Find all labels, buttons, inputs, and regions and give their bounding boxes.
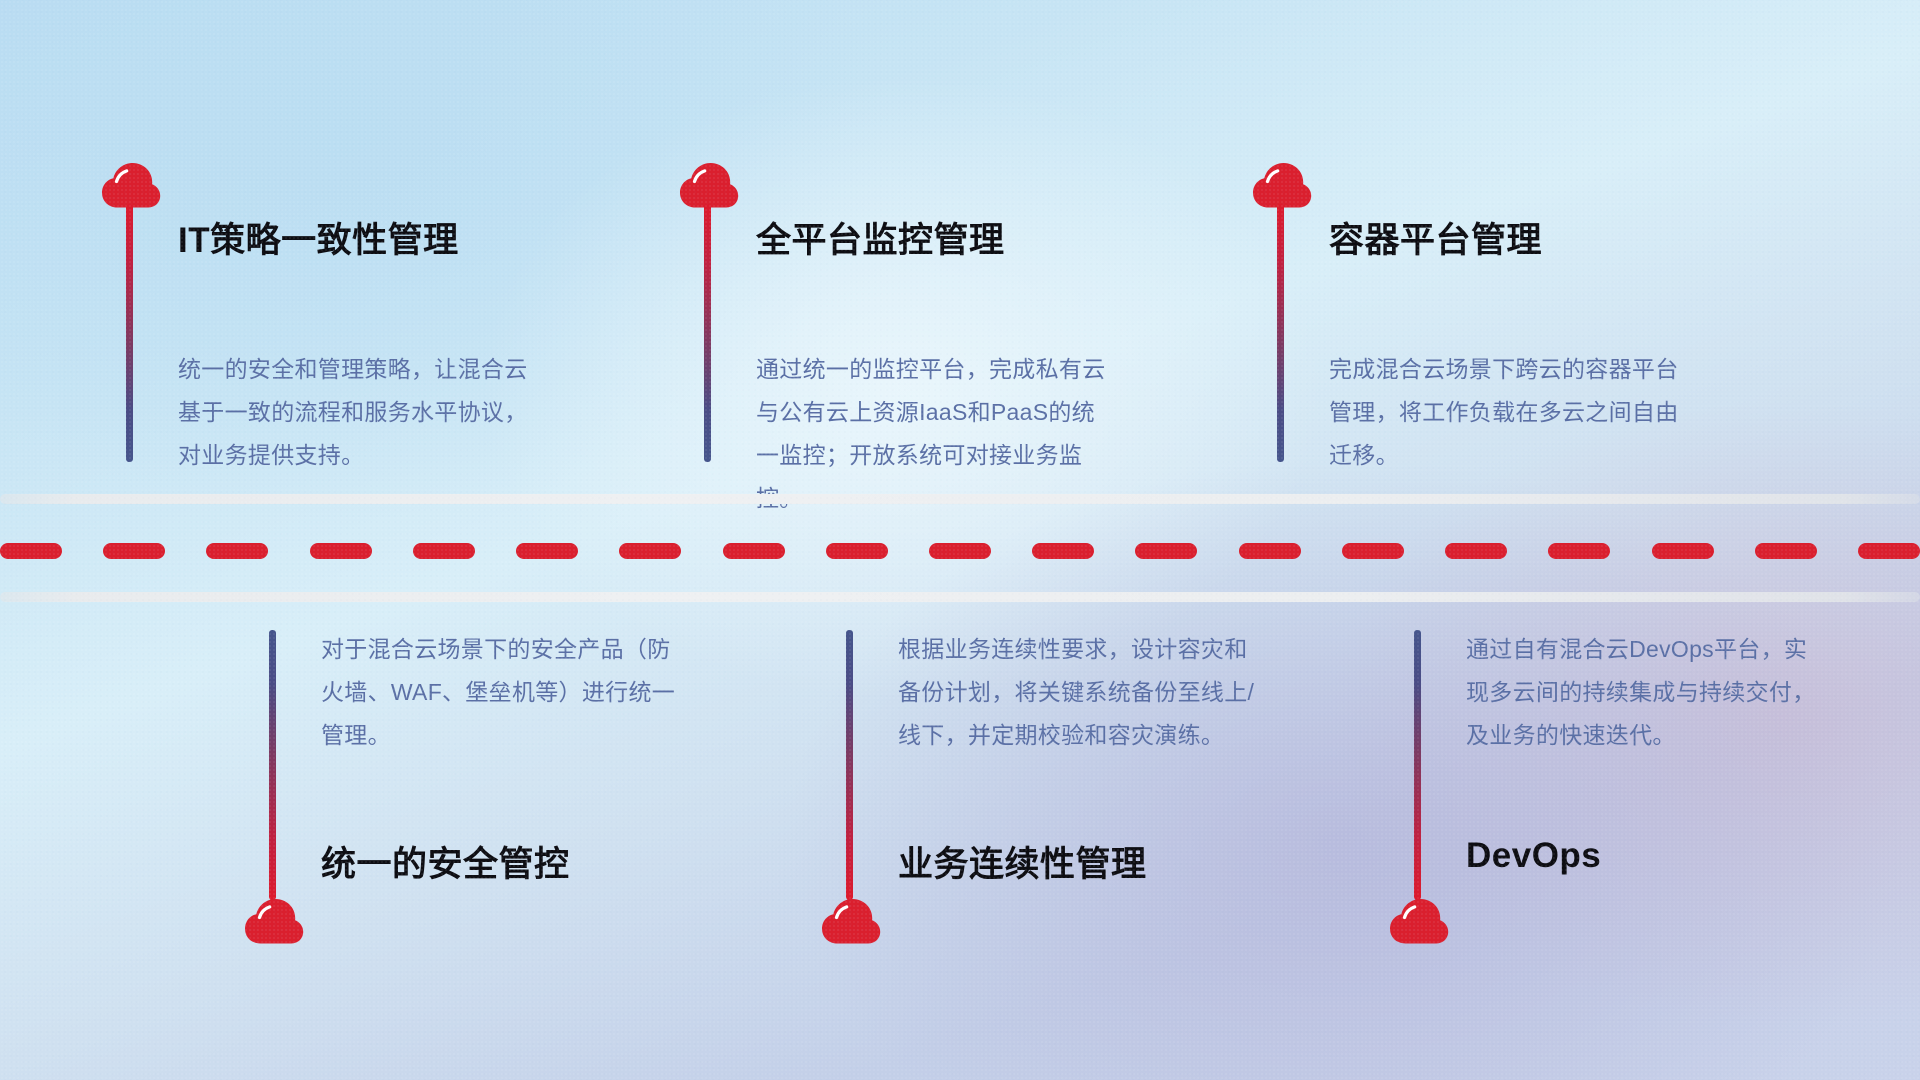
cloud-icon — [243, 896, 305, 946]
road-line-top — [0, 494, 1920, 504]
road-dash-segment — [826, 543, 888, 559]
card-body: 通过自有混合云DevOps平台，实现多云间的持续集成与持续交付，及业务的快速迭代… — [1466, 628, 1826, 757]
connector-line — [846, 630, 853, 900]
road-dash-segment — [723, 543, 785, 559]
road-dash-segment — [1755, 543, 1817, 559]
road-dash-segment — [619, 543, 681, 559]
card-body: 根据业务连续性要求，设计容灾和备份计划，将关键系统备份至线上/线下，并定期校验和… — [898, 628, 1258, 757]
card-body: 统一的安全和管理策略，让混合云基于一致的流程和服务水平协议，对业务提供支持。 — [178, 348, 538, 477]
road-dash-segment — [1239, 543, 1301, 559]
cloud-icon — [100, 160, 162, 210]
connector-line — [1414, 630, 1421, 900]
card-title: 统一的安全管控 — [321, 836, 570, 887]
connector-line — [704, 204, 711, 462]
cloud-icon — [678, 160, 740, 210]
connector-line — [269, 630, 276, 900]
road-dash-segment — [516, 543, 578, 559]
road-dash-segment — [1445, 543, 1507, 559]
road-dash-segment — [103, 543, 165, 559]
road-dash-segment — [206, 543, 268, 559]
card-body: 对于混合云场景下的安全产品（防火墙、WAF、堡垒机等）进行统一管理。 — [321, 628, 681, 757]
cloud-icon — [1251, 160, 1313, 210]
card-title: 容器平台管理 — [1329, 212, 1542, 263]
road-dash-segment — [1548, 543, 1610, 559]
road-dash-segment — [929, 543, 991, 559]
card-title: DevOps — [1466, 836, 1601, 876]
infographic-canvas: IT策略一致性管理 统一的安全和管理策略，让混合云基于一致的流程和服务水平协议，… — [0, 0, 1920, 1080]
card-body: 完成混合云场景下跨云的容器平台管理，将工作负载在多云之间自由迁移。 — [1329, 348, 1689, 477]
road-dash-segment — [1652, 543, 1714, 559]
connector-line — [1277, 204, 1284, 462]
card-title: 业务连续性管理 — [898, 836, 1147, 887]
road-dash-segment — [413, 543, 475, 559]
road-dash-segment — [1032, 543, 1094, 559]
card-title: IT策略一致性管理 — [178, 212, 459, 263]
card-title: 全平台监控管理 — [756, 212, 1005, 263]
cloud-icon — [1388, 896, 1450, 946]
road-dash-segment — [1858, 543, 1920, 559]
road-dashed-center-line — [0, 543, 1920, 559]
cloud-icon — [820, 896, 882, 946]
road-dash-segment — [1135, 543, 1197, 559]
road-line-bottom — [0, 592, 1920, 602]
road-dash-segment — [1342, 543, 1404, 559]
connector-line — [126, 204, 133, 462]
road-dash-segment — [310, 543, 372, 559]
road-dash-segment — [0, 543, 62, 559]
